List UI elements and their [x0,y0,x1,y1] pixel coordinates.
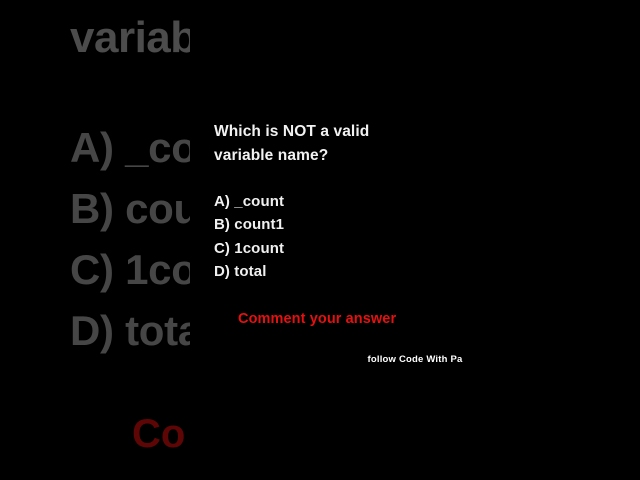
answer-option-b[interactable]: B) count1 [214,213,284,236]
comment-call-to-action: Comment your answer [238,311,396,327]
answer-options-list: A) _count B) count1 C) 1count D) total [214,190,284,283]
background-heading-fragment: variab [70,12,197,64]
foreground-panel: Which is NOT a valid variable name? A) _… [190,0,640,480]
answer-option-a[interactable]: A) _count [214,190,284,213]
question-text: Which is NOT a valid variable name? [214,120,424,168]
quiz-slide: variab A) _co B) cou C) 1cou D) tota Co … [0,0,640,480]
answer-option-d[interactable]: D) total [214,260,284,283]
follow-handle-text: follow Code With Pa [190,354,640,365]
background-cta-fragment: Co [132,412,185,457]
answer-option-c[interactable]: C) 1count [214,237,284,260]
